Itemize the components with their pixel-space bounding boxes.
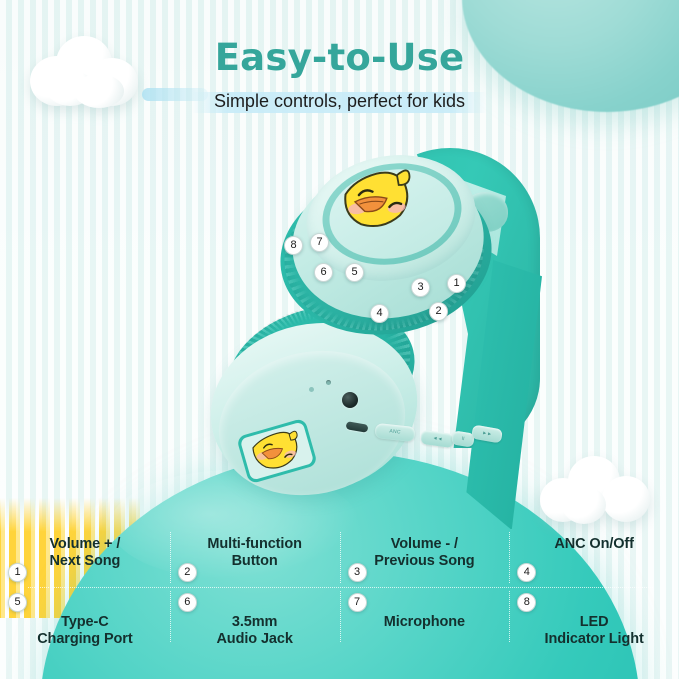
legend-cell-6: 3.5mmAudio Jack6 xyxy=(170,587,340,646)
legend-label-4: ANC On/Off xyxy=(509,536,679,553)
volume-down-previous-button[interactable]: ◄◄ xyxy=(420,430,455,448)
legend-row-top: Volume + /Next Song1Multi-functionButton… xyxy=(0,528,679,587)
legend-badge-6[interactable]: 6 xyxy=(178,593,197,612)
legend-badge-1[interactable]: 1 xyxy=(8,563,27,582)
legend-badge-8[interactable]: 8 xyxy=(517,593,536,612)
legend-cell-4: ANC On/Off4 xyxy=(509,528,679,587)
headphones-product-image: ANC ◄◄ II ►► xyxy=(200,140,560,520)
audio-jack-port[interactable] xyxy=(342,392,358,408)
legend-label-7: Microphone xyxy=(340,614,510,631)
legend-column-divider xyxy=(340,532,341,583)
legend-column-divider xyxy=(509,532,510,583)
callout-badge-2[interactable]: 2 xyxy=(429,302,448,321)
legend-badge-3[interactable]: 3 xyxy=(348,563,367,582)
led-indicator-light xyxy=(309,387,314,392)
subtitle-wrapper: Simple controls, perfect for kids xyxy=(0,88,679,116)
legend-label-3: Volume - /Previous Song xyxy=(340,536,510,570)
legend-label-8: LEDIndicator Light xyxy=(509,614,679,648)
legend-cell-8: LEDIndicator Light8 xyxy=(509,587,679,646)
callout-badge-7[interactable]: 7 xyxy=(310,233,329,252)
infographic-canvas: Easy-to-Use Simple controls, perfect for… xyxy=(0,0,679,679)
legend-label-1: Volume + /Next Song xyxy=(0,536,170,570)
legend-column-divider xyxy=(340,591,341,642)
legend-badge-4[interactable]: 4 xyxy=(517,563,536,582)
legend-table: Volume + /Next Song1Multi-functionButton… xyxy=(0,528,679,646)
legend-cell-5: Type-CCharging Port5 xyxy=(0,587,170,646)
callout-badge-4[interactable]: 4 xyxy=(370,304,389,323)
legend-column-divider xyxy=(509,591,510,642)
legend-cell-1: Volume + /Next Song1 xyxy=(0,528,170,587)
legend-cell-7: Microphone7 xyxy=(340,587,510,646)
page-title: Easy-to-Use xyxy=(0,36,679,79)
legend-label-6: 3.5mmAudio Jack xyxy=(170,614,340,648)
legend-label-2: Multi-functionButton xyxy=(170,536,340,570)
legend-label-5: Type-CCharging Port xyxy=(0,614,170,648)
microphone-hole xyxy=(326,380,331,385)
callout-badge-6[interactable]: 6 xyxy=(314,263,333,282)
legend-row-bottom: Type-CCharging Port53.5mmAudio Jack6Micr… xyxy=(0,587,679,646)
callout-badge-3[interactable]: 3 xyxy=(411,278,430,297)
legend-badge-5[interactable]: 5 xyxy=(8,593,27,612)
callout-badge-5[interactable]: 5 xyxy=(345,263,364,282)
legend-badge-2[interactable]: 2 xyxy=(178,563,197,582)
callout-badge-8[interactable]: 8 xyxy=(284,236,303,255)
legend-badge-7[interactable]: 7 xyxy=(348,593,367,612)
legend-cell-2: Multi-functionButton2 xyxy=(170,528,340,587)
callout-badge-1[interactable]: 1 xyxy=(447,274,466,293)
legend-cell-3: Volume - /Previous Song3 xyxy=(340,528,510,587)
subtitle-highlight-band: Simple controls, perfect for kids xyxy=(192,88,487,116)
page-subtitle: Simple controls, perfect for kids xyxy=(214,91,465,111)
legend-column-divider xyxy=(170,591,171,642)
legend-column-divider xyxy=(170,532,171,583)
